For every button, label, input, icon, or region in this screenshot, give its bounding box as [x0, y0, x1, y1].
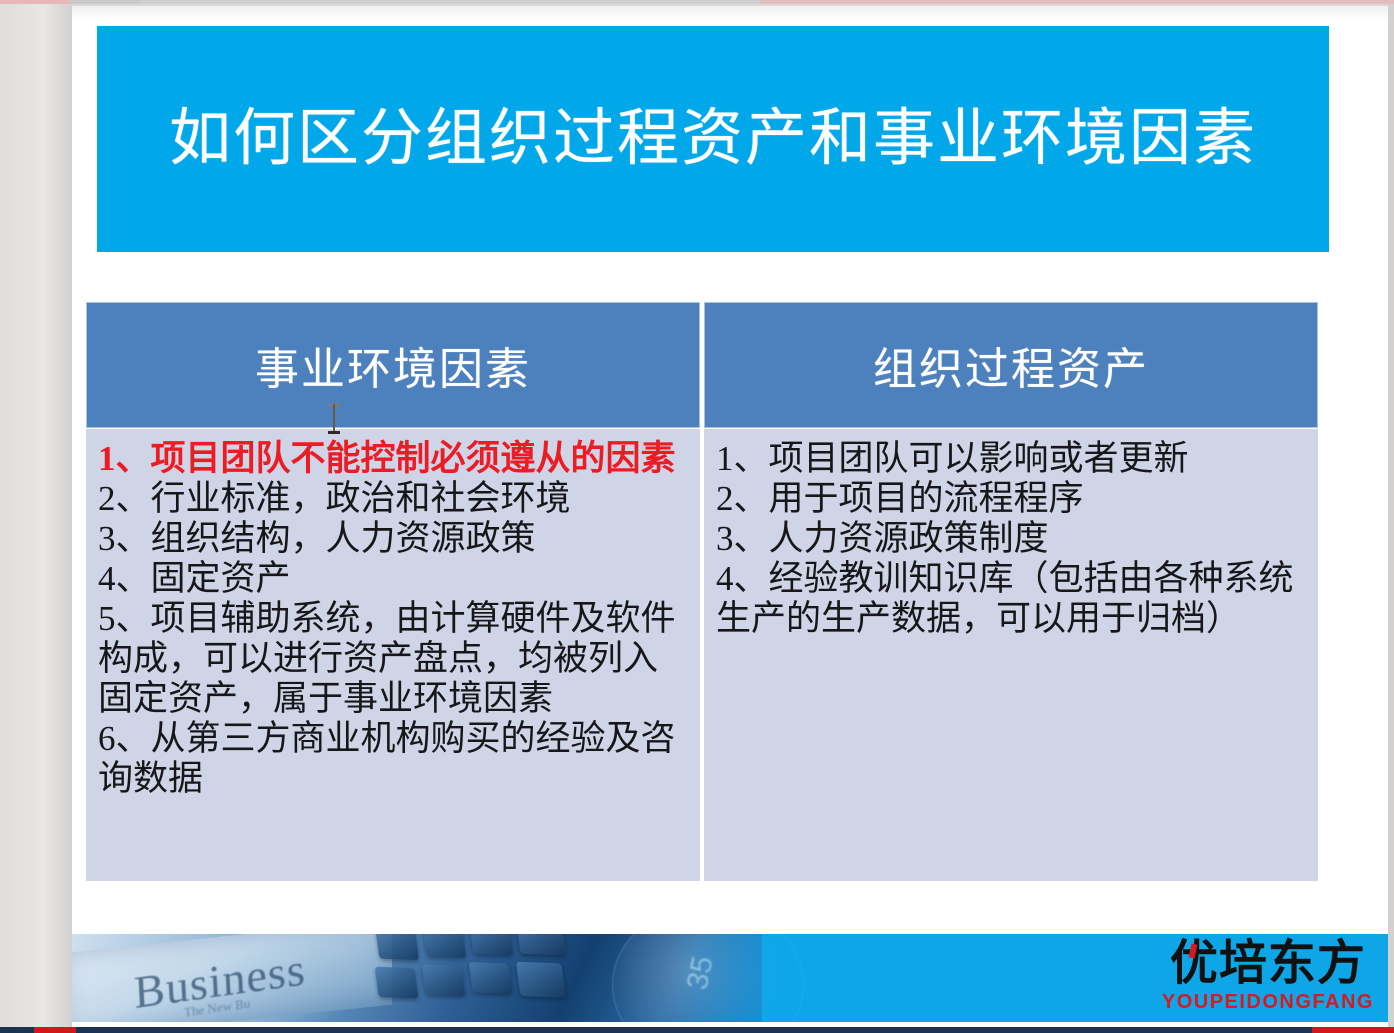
slide-title-banner: 如何区分组织过程资产和事业环境因素	[97, 26, 1329, 252]
table-body-row: 1、项目团队不能控制必须遵从的因素 2、行业标准，政治和社会环境 3、组织结构，…	[86, 429, 1318, 881]
brand-logo-en: YOUPEIDONGFANG	[1162, 992, 1374, 1012]
slide-top-shading	[72, 6, 1388, 22]
table-header-cell-opa: 组织过程资产	[704, 302, 1318, 428]
list-item: 5、项目辅助系统，由计算硬件及软件构成，可以进行资产盘点，均被列入固定资产，属于…	[98, 599, 686, 719]
bottom-accent-rule	[0, 1027, 1394, 1033]
list-item: 4、固定资产	[98, 559, 686, 599]
footer-photo-fade	[672, 934, 892, 1022]
left-gutter	[0, 4, 72, 1033]
column-header-label: 组织过程资产	[873, 333, 1149, 397]
bottom-accent-right	[1312, 1027, 1394, 1033]
slide-canvas: 如何区分组织过程资产和事业环境因素 事业环境因素 组织过程资产 1、项目团队不能…	[72, 6, 1388, 1028]
list-item: 4、经验教训知识库（包括由各种系统生产的生产数据，可以用于归档）	[716, 559, 1304, 639]
footer-photo-image: Business The New Bu 35	[72, 934, 762, 1022]
list-item: 1、项目团队可以影响或者更新	[716, 439, 1304, 479]
list-item: 2、用于项目的流程程序	[716, 479, 1304, 519]
list-item: 6、从第三方商业机构购买的经验及咨询数据	[98, 719, 686, 799]
brand-logo: 优培东方 YOUPEIDONGFANG	[1162, 940, 1374, 1012]
table-header-cell-eef: 事业环境因素	[86, 302, 700, 428]
comparison-table: 事业环境因素 组织过程资产 1、项目团队不能控制必须遵从的因素 2、行业标准，政…	[86, 302, 1318, 884]
list-item: 3、人力资源政策制度	[716, 519, 1304, 559]
list-item: 3、组织结构，人力资源政策	[98, 519, 686, 559]
bottom-accent-left	[34, 1027, 76, 1033]
page-title: 如何区分组织过程资产和事业环境因素	[169, 105, 1257, 173]
column-header-label: 事业环境因素	[255, 333, 531, 397]
list-item: 2、行业标准，政治和社会环境	[98, 479, 686, 519]
table-body-cell-opa: 1、项目团队可以影响或者更新 2、用于项目的流程程序 3、人力资源政策制度 4、…	[704, 429, 1318, 881]
table-header-row: 事业环境因素 组织过程资产	[86, 302, 1318, 428]
slide-footer-band: Business The New Bu 35 优培东方	[72, 934, 1388, 1022]
presentation-viewer: 如何区分组织过程资产和事业环境因素 事业环境因素 组织过程资产 1、项目团队不能…	[0, 0, 1394, 1033]
right-gutter	[1388, 4, 1394, 1033]
list-item: 1、项目团队不能控制必须遵从的因素	[98, 439, 686, 479]
table-body-cell-eef: 1、项目团队不能控制必须遵从的因素 2、行业标准，政治和社会环境 3、组织结构，…	[86, 429, 700, 881]
top-progress-strip	[0, 0, 1394, 4]
